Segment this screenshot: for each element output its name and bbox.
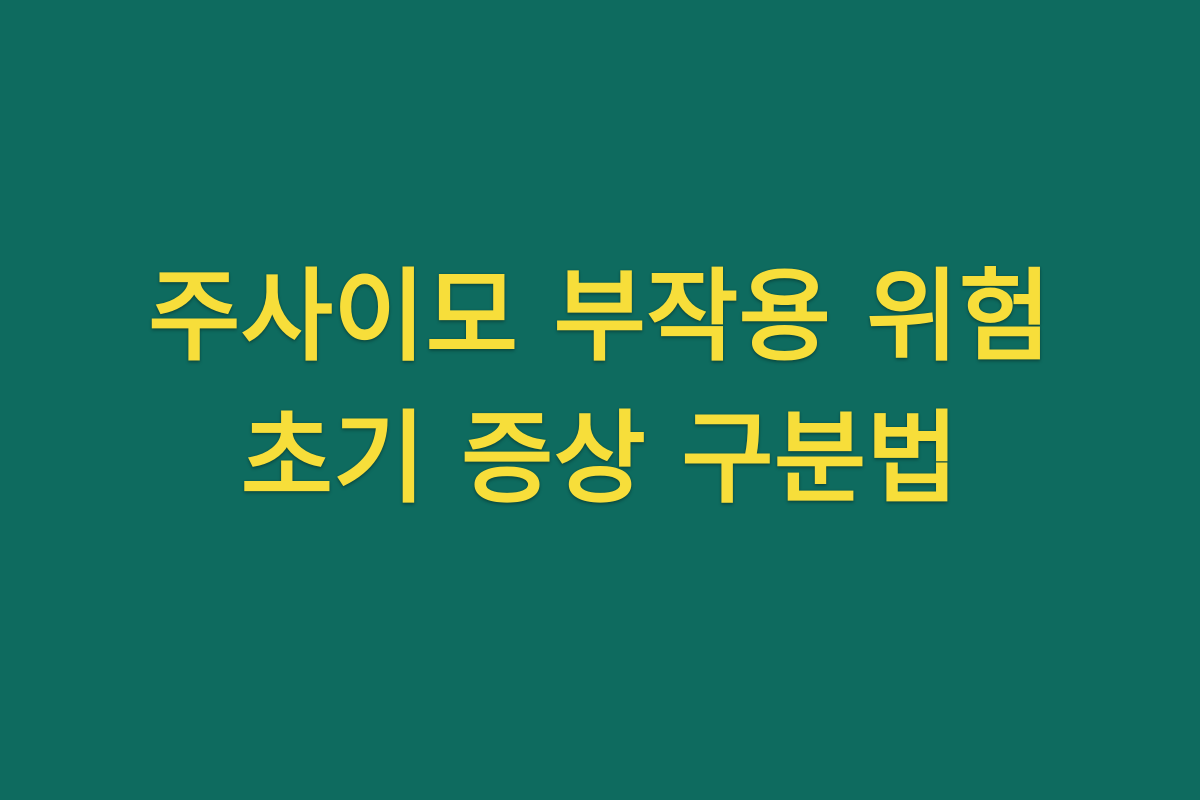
headline-line-2: 초기 증상 구분법 bbox=[0, 388, 1200, 530]
headline-line-1: 주사이모 부작용 위험 bbox=[0, 246, 1200, 388]
headline-block: 주사이모 부작용 위험 초기 증상 구분법 bbox=[0, 246, 1200, 530]
thumbnail-card: 주사이모 부작용 위험 초기 증상 구분법 bbox=[0, 0, 1200, 800]
